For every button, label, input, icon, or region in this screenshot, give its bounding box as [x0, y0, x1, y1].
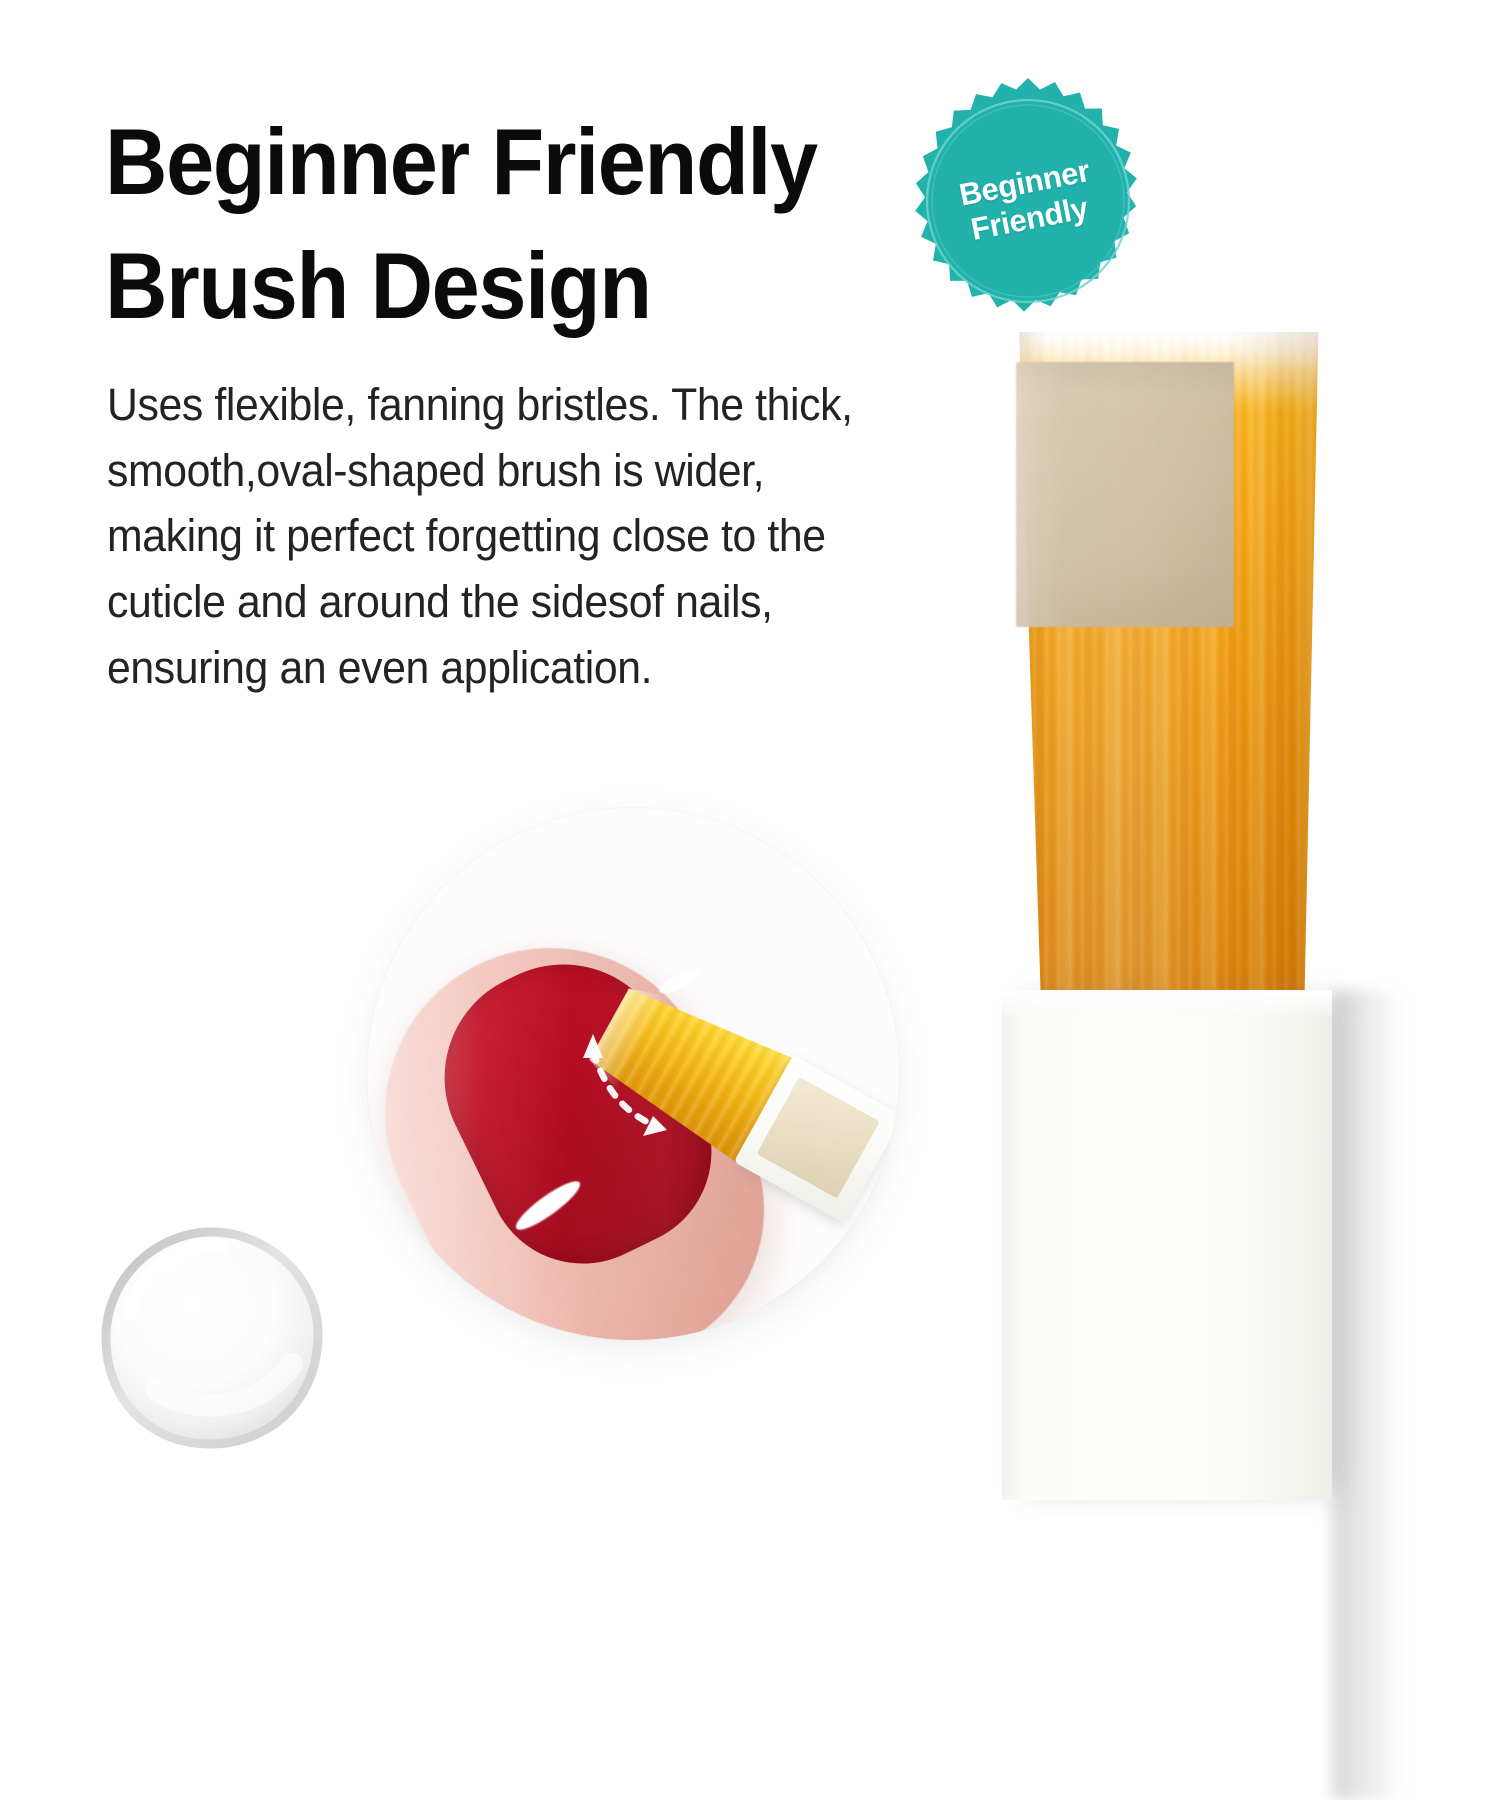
- nail-application-inset: [367, 808, 899, 1340]
- page-title: Beginner Friendly Brush Design: [105, 100, 841, 348]
- handle-inner-panel: [1016, 362, 1234, 627]
- body-line-3: making it perfect forgetting close to th…: [107, 503, 896, 569]
- water-droplet-icon: [96, 1222, 328, 1454]
- body-line-5: ensuring an even application.: [107, 635, 896, 701]
- marketing-banner: Beginner Friendly Brush Design Uses flex…: [0, 0, 1500, 1500]
- stroke-direction-arrow-icon: [367, 808, 899, 1340]
- beginner-friendly-badge: Beginner Friendly: [903, 76, 1153, 326]
- brush-handle: [1002, 990, 1332, 1500]
- handle-drop-shadow: [1332, 990, 1404, 1800]
- headline-line-1: Beginner Friendly: [105, 100, 841, 224]
- body-line-4: cuticle and around the sidesof nails,: [107, 569, 896, 635]
- product-photo-brush: [960, 300, 1440, 1500]
- body-line-1: Uses flexible, fanning bristles. The thi…: [107, 372, 896, 438]
- starburst-shape: [915, 78, 1137, 312]
- handle-gloss: [1002, 990, 1332, 1016]
- body-line-2: smooth,oval-shaped brush is wider,: [107, 438, 896, 504]
- headline-line-2: Brush Design: [105, 224, 841, 348]
- body-copy: Uses flexible, fanning bristles. The thi…: [107, 372, 896, 700]
